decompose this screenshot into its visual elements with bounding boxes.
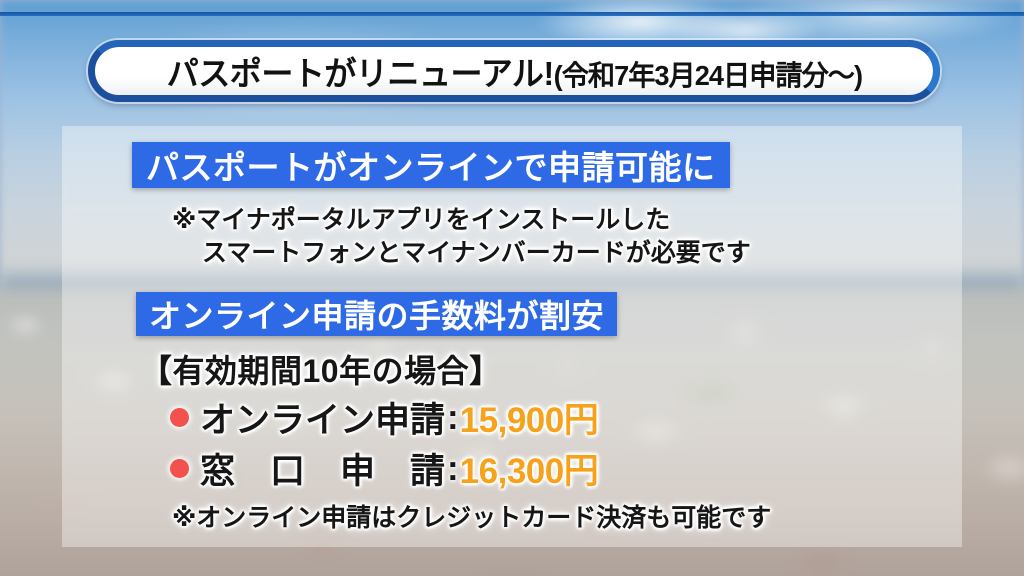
page-title-paren: (令和7年3月24日申請分〜) [553, 60, 861, 91]
bullet-dot-icon [170, 408, 189, 427]
note-requirements-line2: スマートフォンとマイナンバーカードが必要です [172, 237, 751, 270]
fee-row-online: オンライン申請 : 15,900円 [170, 392, 598, 443]
note-credit-card: ※オンライン申請はクレジットカード決済も可能です [172, 498, 771, 534]
validity-heading: 【有効期間10年の場合】 [140, 346, 502, 392]
fee-colon-counter: : [447, 449, 459, 489]
fee-row-counter: 窓 口 申 請 : 16,300円 [170, 443, 598, 494]
fee-amount-online: 15,900円 [460, 392, 599, 443]
note-requirements: ※マイナポータルアプリをインストールした スマートフォンとマイナンバーカードが必… [172, 204, 751, 270]
note-requirements-line1: ※マイナポータルアプリをインストールした [172, 204, 751, 237]
fee-colon-online: : [447, 398, 459, 438]
page-title-main: パスポートがリニューアル! [166, 55, 553, 92]
fee-label-online: オンライン申請 [200, 392, 445, 443]
banner-online-application: パスポートがオンラインで申請可能に [132, 142, 730, 188]
fee-label-counter: 窓 口 申 請 [200, 443, 445, 494]
infographic-slide: パスポートがリニューアル!(令和7年3月24日申請分〜) パスポートがオンライン… [0, 0, 1024, 576]
bullet-dot-icon [170, 459, 189, 478]
top-accent-stripe [0, 12, 1024, 16]
banner-cheaper-fee: オンライン申請の手数料が割安 [136, 292, 617, 336]
title-pill: パスポートがリニューアル!(令和7年3月24日申請分〜) [88, 40, 940, 102]
fee-amount-counter: 16,300円 [460, 443, 599, 494]
page-title: パスポートがリニューアル!(令和7年3月24日申請分〜) [166, 47, 861, 95]
